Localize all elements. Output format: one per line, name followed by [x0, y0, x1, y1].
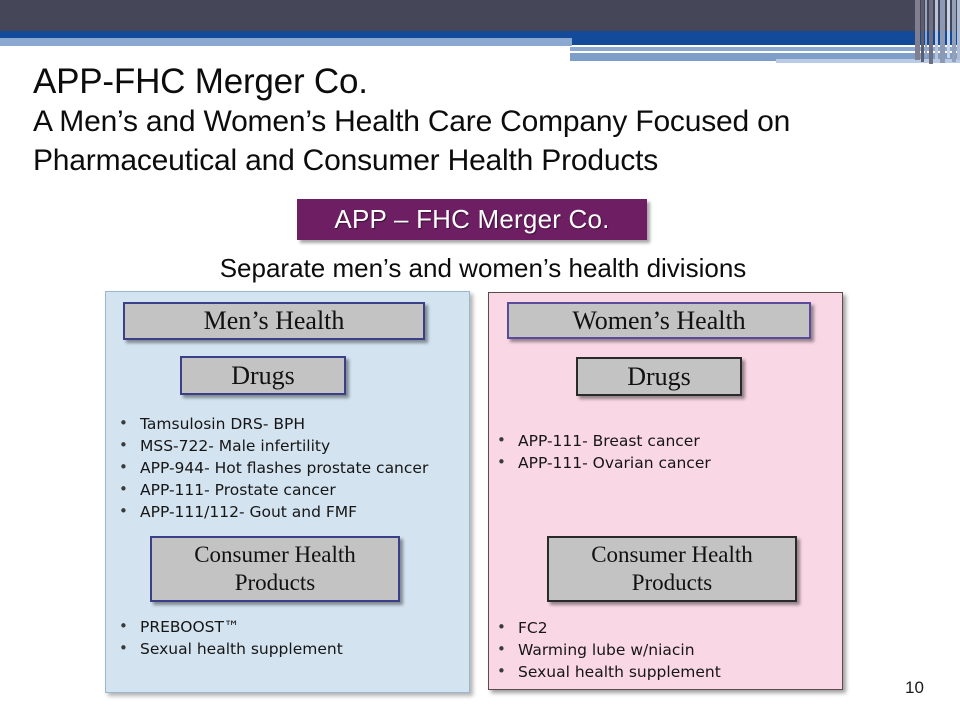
- header-ribbon-8: [952, 0, 956, 62]
- list-item: APP-111- Breast cancer: [484, 430, 711, 452]
- list-item: APP-111/112- Gout and FMF: [106, 501, 428, 523]
- slide-number: 10: [905, 678, 924, 698]
- header-ribbon-2: [921, 0, 924, 62]
- page-subtitle-line-1: A Men’s and Women’s Health Care Company …: [33, 102, 863, 141]
- womens-consumer-health-header-label: Consumer Health Products: [591, 541, 753, 597]
- list-item: Tamsulosin DRS- BPH: [106, 413, 428, 435]
- womens-consumer-health-list: FC2 Warming lube w/niacin Sexual health …: [484, 617, 721, 683]
- list-item: APP-944- Hot flashes prostate cancer: [106, 457, 428, 479]
- womens-health-header-box: Women’s Health: [507, 302, 811, 339]
- page-subtitle-line-2: Pharmaceutical and Consumer Health Produ…: [33, 141, 863, 180]
- list-item: Warming lube w/niacin: [484, 639, 721, 661]
- mens-health-panel: Men’s Health Drugs Tamsulosin DRS- BPH M…: [105, 291, 470, 693]
- slide-header-decoration: [0, 0, 960, 70]
- mens-consumer-health-list: PREBOOST™ Sexual health supplement: [106, 616, 343, 660]
- header-ribbon-1: [915, 0, 920, 60]
- womens-consumer-health-header-box: Consumer Health Products: [547, 536, 797, 602]
- page-title: APP-FHC Merger Co.: [33, 62, 863, 102]
- header-ribbon-4: [929, 0, 933, 64]
- mens-drugs-header-label: Drugs: [231, 361, 295, 391]
- mens-consumer-health-header-label: Consumer Health Products: [194, 541, 356, 597]
- list-item: PREBOOST™: [106, 616, 343, 638]
- mens-drugs-header-box: Drugs: [180, 356, 346, 395]
- merger-banner-label: APP – FHC Merger Co.: [334, 204, 609, 235]
- list-item: Sexual health supplement: [106, 638, 343, 660]
- chp-label-line-2: Products: [591, 569, 753, 597]
- list-item: Sexual health supplement: [484, 661, 721, 683]
- slide-title-block: APP-FHC Merger Co. A Men’s and Women’s H…: [33, 62, 863, 180]
- womens-drugs-header-label: Drugs: [627, 362, 691, 392]
- list-item: MSS-722- Male infertility: [106, 435, 428, 457]
- womens-health-header-label: Women’s Health: [572, 306, 745, 336]
- header-accent-band-2: [570, 47, 960, 51]
- chp-label-line-1: Consumer Health: [591, 541, 753, 569]
- header-accent-band-1: [0, 38, 572, 46]
- header-ribbon-3: [925, 0, 927, 57]
- womens-drugs-header-box: Drugs: [576, 357, 742, 396]
- mens-health-header-box: Men’s Health: [123, 302, 425, 340]
- chp-label-line-1: Consumer Health: [194, 541, 356, 569]
- header-ribbon-7: [947, 0, 950, 58]
- divisions-caption: Separate men’s and women’s health divisi…: [0, 253, 960, 284]
- mens-health-header-label: Men’s Health: [204, 306, 345, 336]
- womens-health-panel: Women’s Health Drugs APP-111- Breast can…: [488, 292, 843, 690]
- list-item: APP-111- Prostate cancer: [106, 479, 428, 501]
- list-item: FC2: [484, 617, 721, 639]
- chp-label-line-2: Products: [194, 569, 356, 597]
- header-dark-band: [0, 0, 960, 31]
- mens-consumer-health-header-box: Consumer Health Products: [150, 536, 400, 602]
- list-item: APP-111- Ovarian cancer: [484, 452, 711, 474]
- womens-drugs-list: APP-111- Breast cancer APP-111- Ovarian …: [484, 430, 711, 474]
- merger-banner: APP – FHC Merger Co.: [297, 199, 647, 240]
- mens-drugs-list: Tamsulosin DRS- BPH MSS-722- Male infert…: [106, 413, 428, 523]
- header-ribbon-6: [940, 0, 945, 63]
- header-ribbon-5: [935, 0, 938, 59]
